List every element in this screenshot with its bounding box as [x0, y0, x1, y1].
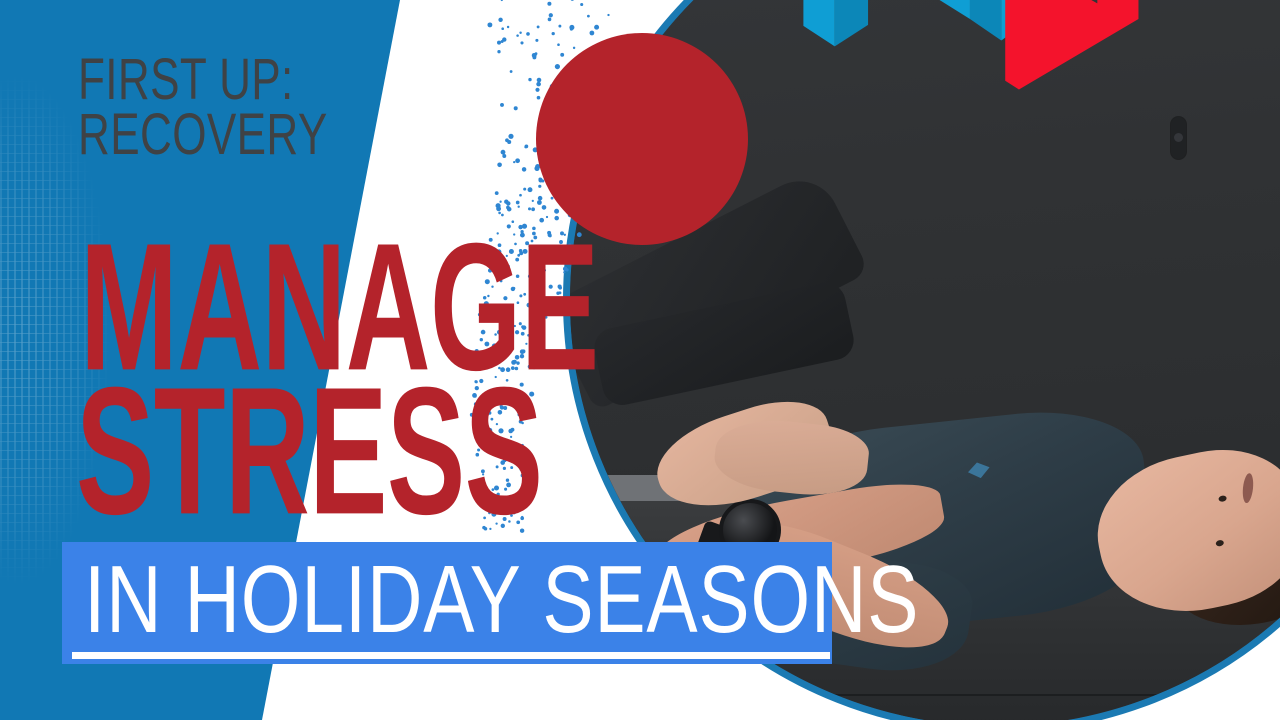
shirt-logo-icon: [967, 461, 991, 479]
subtitle-underline: [72, 652, 830, 659]
headline-line-2: STRESS: [76, 360, 542, 541]
thumbnail-canvas: FIRST UP: RECOVERY MANAGE STRESS IN HOLI…: [0, 0, 1280, 720]
person-mouth: [1242, 473, 1255, 504]
kicker-text: FIRST UP: RECOVERY: [78, 52, 405, 162]
wall-fixture: [1171, 117, 1186, 159]
subtitle-banner-text: IN HOLIDAY SEASONS: [84, 552, 804, 648]
mg-logo-icon: [774, 0, 1166, 155]
person-eye: [1215, 540, 1224, 548]
person-eye: [1218, 495, 1227, 503]
